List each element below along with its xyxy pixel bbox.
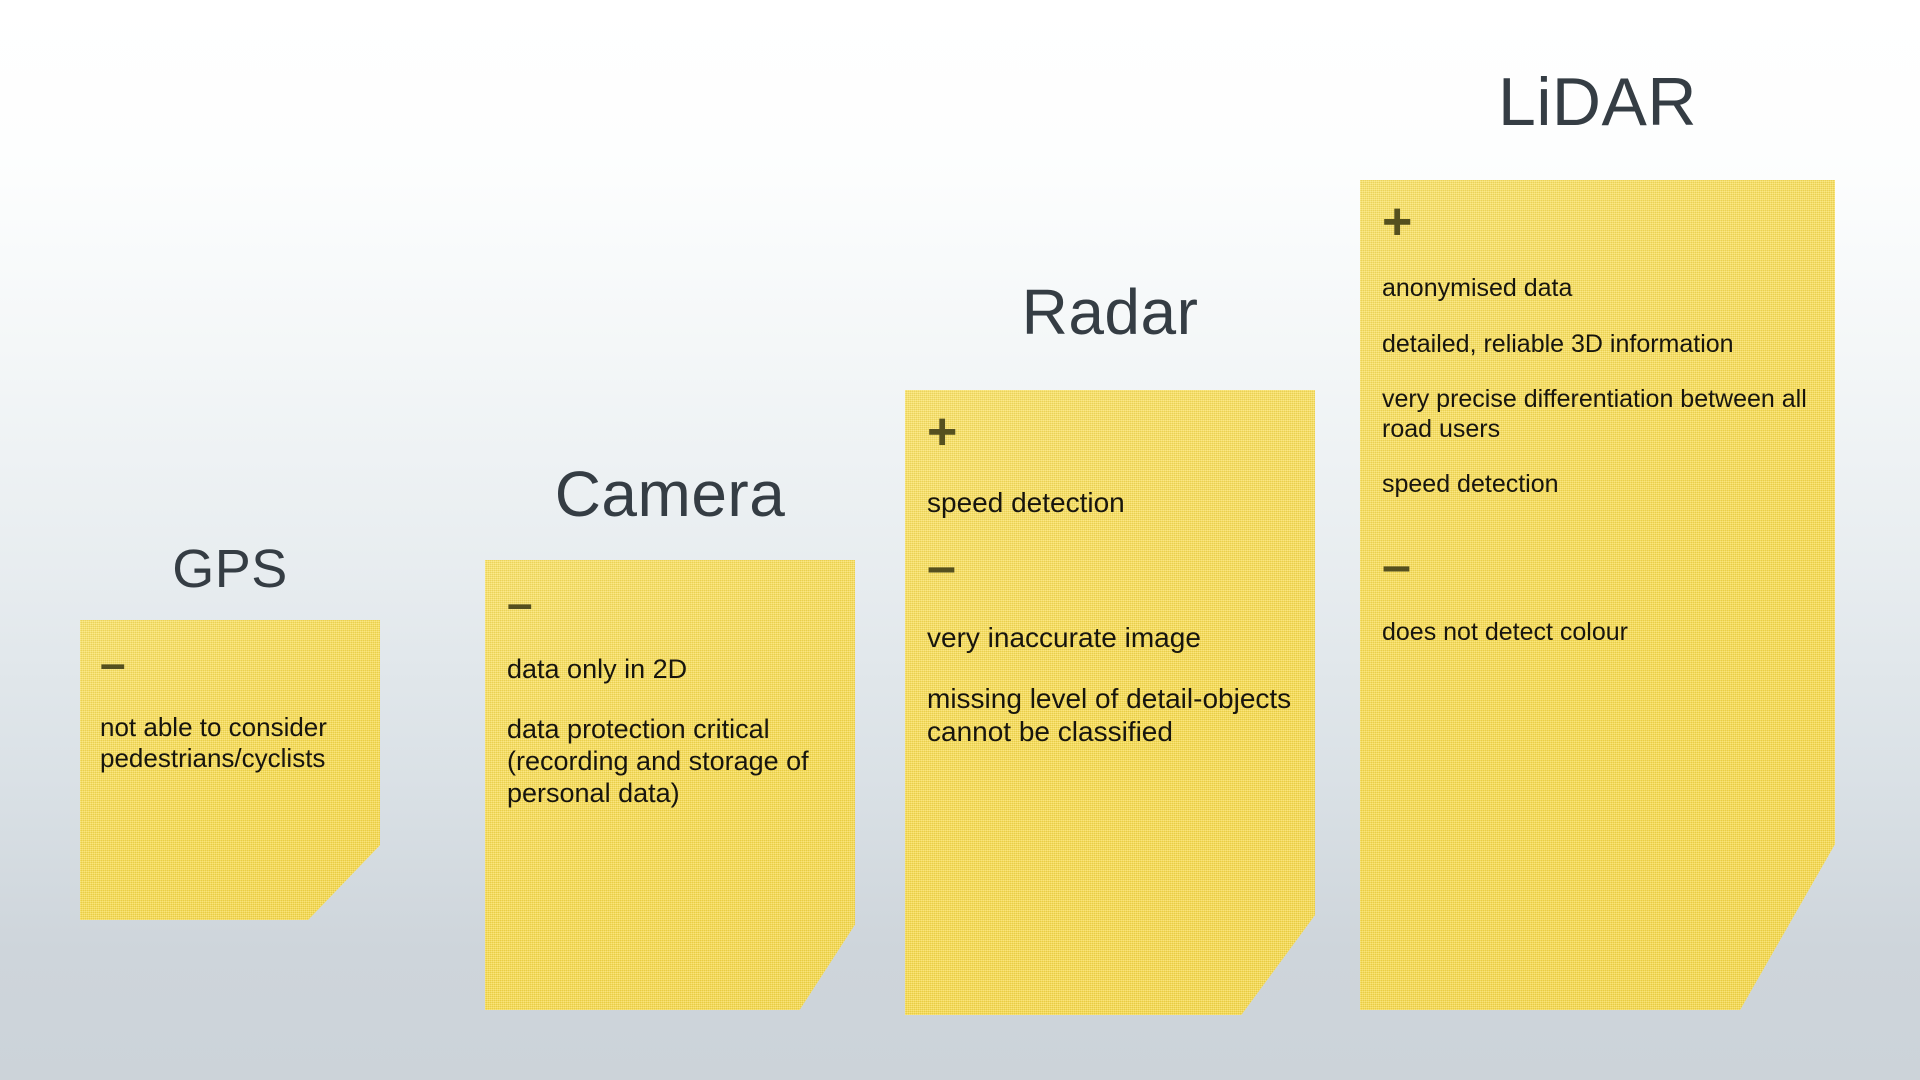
card-title-radar: Radar — [905, 280, 1315, 344]
plus-icon: + — [927, 406, 1315, 458]
list-item: speed detection — [927, 486, 1315, 519]
note-camera: – data only in 2D data protection critic… — [485, 560, 855, 1010]
card-title-camera: Camera — [485, 462, 855, 526]
list-item: does not detect colour — [1382, 618, 1835, 648]
minus-icon: – — [100, 640, 380, 686]
note-radar: + speed detection – very inaccurate imag… — [905, 390, 1315, 1015]
card-title-gps: GPS — [80, 542, 380, 596]
note-body-lidar: + anonymised data detailed, reliable 3D … — [1360, 180, 1835, 1010]
note-gps: – not able to consider pedestrians/cycli… — [80, 620, 380, 920]
note-body-gps: – not able to consider pedestrians/cycli… — [80, 620, 380, 920]
minus-icon: – — [1382, 540, 1835, 592]
infographic-canvas: GPS – not able to consider pedestrians/c… — [0, 0, 1920, 1080]
list-item: very precise differentiation between all… — [1382, 385, 1835, 444]
plus-icon: + — [1382, 196, 1835, 248]
list-item: data only in 2D — [507, 654, 855, 686]
card-title-lidar: LiDAR — [1360, 68, 1835, 136]
note-lidar: + anonymised data detailed, reliable 3D … — [1360, 180, 1835, 1010]
list-item: data protection critical (recording and … — [507, 714, 855, 810]
list-item: speed detection — [1382, 470, 1835, 500]
list-item: missing level of detail-objects cannot b… — [927, 682, 1315, 748]
note-body-camera: – data only in 2D data protection critic… — [485, 560, 855, 1010]
list-item: detailed, reliable 3D information — [1382, 330, 1835, 360]
note-body-radar: + speed detection – very inaccurate imag… — [905, 390, 1315, 1015]
list-item: very inaccurate image — [927, 621, 1315, 654]
list-item: anonymised data — [1382, 274, 1835, 304]
minus-icon: – — [507, 580, 855, 626]
list-item: not able to consider pedestrians/cyclist… — [100, 712, 380, 773]
minus-icon: – — [927, 541, 1315, 593]
